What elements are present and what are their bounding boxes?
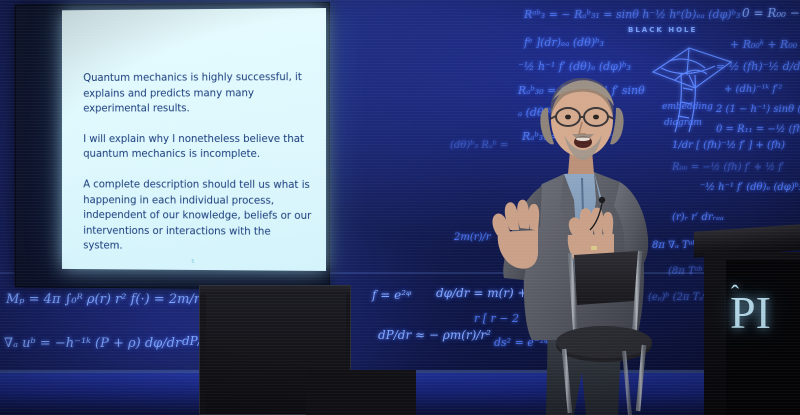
- stage-foreground-block: [306, 370, 416, 415]
- stage-lectern: ̂ PI: [694, 228, 800, 415]
- slide-text-body: Quantum mechanics is highly successful, …: [83, 70, 312, 256]
- presentation-slide: Quantum mechanics is highly successful, …: [62, 8, 326, 271]
- slide-paragraph-1: Quantum mechanics is highly successful, …: [83, 70, 312, 117]
- chalk-equation: ∇ₐ uᵇ = −h⁻¹ᵏ (P + ρ) dφ/dr: [4, 336, 181, 351]
- slide-paragraph-3: A complete description should tell us wh…: [83, 177, 312, 255]
- pi-institute-logo: PI: [730, 290, 771, 336]
- chalk-equation: Rᵃᵇ₃ = − Rₐᵇ₃₁ = sinθ h⁻½ hᵉ(b)ₑₐ (dφ)ᵇ₃: [524, 8, 740, 21]
- chalk-equation: f = e²ᵠ: [372, 288, 411, 302]
- chalk-equation: 2m(r)/r: [454, 232, 491, 243]
- stage-chair: [552, 245, 687, 415]
- slide-page-number: 5: [62, 258, 326, 266]
- chalk-equation: dP/dr ≈ − ρm(r)/r²: [378, 328, 491, 342]
- lecture-hall-scene: Rᵃᵇ₃ = − Rₐᵇ₃₁ = sinθ h⁻½ hᵉ(b)ₑₐ (dφ)ᵇ₃…: [0, 0, 800, 415]
- chalk-equation: ⁻½ h⁻¹ f′ (dθ)ₑ (dφ)ᵇ₃: [700, 182, 800, 193]
- projection-screen: Quantum mechanics is highly successful, …: [15, 2, 330, 290]
- slide-paragraph-2: I will explain why I nonetheless believe…: [83, 132, 312, 163]
- chalk-equation: + R₀₀ᵏ + R₀₀: [730, 38, 797, 51]
- chalk-equation: 0 = R₀₀ − R₀₀: [742, 6, 800, 20]
- chalk-equation: Mₚ = 4π ∫₀ᴿ ρ(r) r² f(·) = 2m/r: [6, 292, 200, 307]
- chalk-equation: fᵉ ](dr)ₑₐ (dθ)ᵇ₃: [524, 36, 604, 49]
